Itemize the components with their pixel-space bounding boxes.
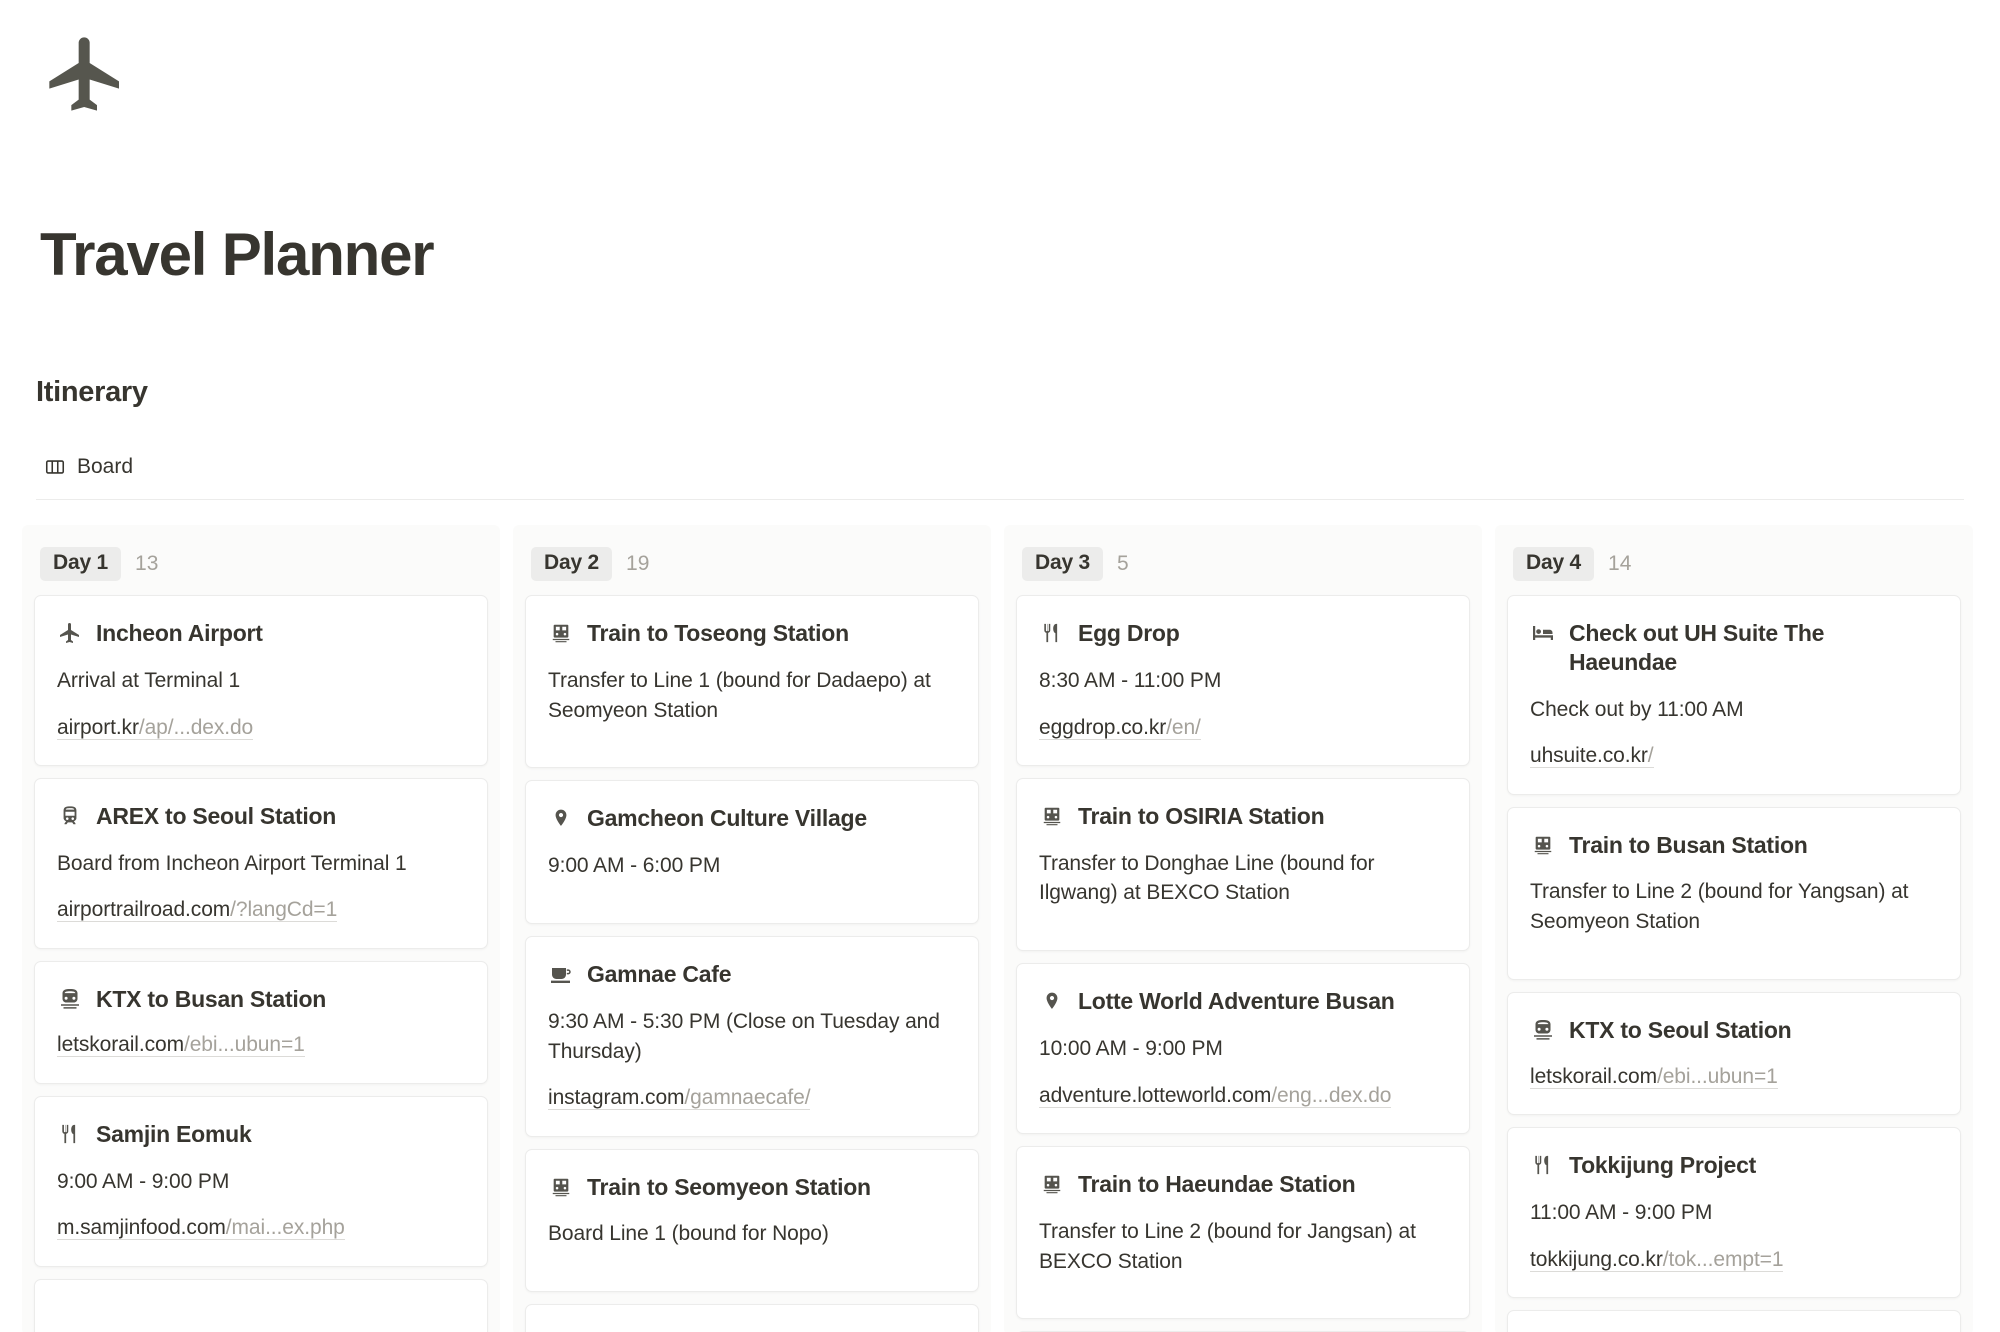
- card-title-text: Check out UH Suite The Haeundae: [1569, 618, 1938, 677]
- card-title: Incheon Airport: [57, 618, 465, 648]
- card-subtitle: Transfer to Line 1 (bound for Dadaepo) a…: [548, 666, 956, 726]
- card-title-text: Train to Seomyeon Station: [587, 1172, 871, 1202]
- card-title: Samjin Eomuk: [57, 1119, 465, 1149]
- card-subtitle: Transfer to Donghae Line (bound for Ilgw…: [1039, 849, 1447, 909]
- card-title: Egg Drop: [1039, 618, 1447, 648]
- card-list: Check out UH Suite The HaeundaeCheck out…: [1495, 595, 1973, 1332]
- tab-board[interactable]: Board: [44, 455, 133, 479]
- url-path: /en/: [1166, 716, 1201, 739]
- board-column[interactable]: Day 35Egg Drop8:30 AM - 11:00 PMeggdrop.…: [1004, 525, 1482, 1332]
- card-url-link[interactable]: m.samjinfood.com/mai...ex.php: [57, 1216, 345, 1240]
- url-domain: airport.kr: [57, 716, 139, 739]
- url-domain: m.samjinfood.com: [57, 1216, 226, 1239]
- itinerary-card[interactable]: Jeonpo Café Street: [525, 1304, 979, 1332]
- card-subtitle: Transfer to Line 2 (bound for Yangsan) a…: [1530, 877, 1938, 937]
- card-subtitle: Arrival at Terminal 1: [57, 666, 465, 696]
- board-view[interactable]: Day 113Incheon AirportArrival at Termina…: [22, 525, 1994, 1332]
- itinerary-card[interactable]: AREX to Seoul StationBoard from Incheon …: [34, 778, 488, 949]
- card-title: Train to Seomyeon Station: [548, 1172, 956, 1202]
- card-title-text: Egg Drop: [1078, 618, 1180, 648]
- metro-train-icon: [57, 802, 82, 830]
- column-card-count: 13: [135, 552, 158, 576]
- card-url-link[interactable]: tokkijung.co.kr/tok...empt=1: [1530, 1248, 1783, 1272]
- card-title-text: Tokkijung Project: [1569, 1150, 1756, 1180]
- map-pin-icon: [1039, 987, 1064, 1015]
- subway-train-icon: [548, 1173, 573, 1201]
- url-path: /ebi...ubun=1: [1657, 1065, 1778, 1088]
- header-divider: [36, 499, 1964, 500]
- card-url-link[interactable]: eggdrop.co.kr/en/: [1039, 716, 1201, 740]
- card-title: Tokkijung Project: [1530, 1150, 1938, 1180]
- bed-icon: [1530, 619, 1555, 647]
- itinerary-card[interactable]: Tokkijung Project11:00 AM - 9:00 PMtokki…: [1507, 1127, 1961, 1298]
- subway-train-icon: [1039, 1170, 1064, 1198]
- card-title: Train to Busan Station: [1530, 830, 1938, 860]
- card-url-link[interactable]: letskorail.com/ebi...ubun=1: [1530, 1065, 1778, 1089]
- column-card-count: 19: [626, 552, 649, 576]
- restaurant-icon: [57, 1120, 82, 1148]
- url-path: /gamnaecafe/: [684, 1086, 810, 1109]
- card-url-link[interactable]: uhsuite.co.kr/: [1530, 744, 1654, 768]
- card-url-link[interactable]: adventure.lotteworld.com/eng...dex.do: [1039, 1084, 1391, 1108]
- itinerary-card[interactable]: Lotte World Adventure Busan10:00 AM - 9:…: [1016, 963, 1470, 1134]
- card-title: AREX to Seoul Station: [57, 801, 465, 831]
- card-url-link[interactable]: airportrailroad.com/?langCd=1: [57, 898, 337, 922]
- card-title: Jeonpo Café Street: [548, 1327, 956, 1332]
- url-domain: instagram.com: [548, 1086, 684, 1109]
- column-header[interactable]: Day 113: [22, 525, 500, 595]
- restaurant-icon: [1530, 1151, 1555, 1179]
- subway-train-icon: [548, 619, 573, 647]
- card-subtitle: Transfer to Line 2 (bound for Jangsan) a…: [1039, 1217, 1447, 1277]
- itinerary-card[interactable]: Gamnae Cafe9:30 AM - 5:30 PM (Close on T…: [525, 936, 979, 1137]
- url-path: /mai...ex.php: [226, 1216, 345, 1239]
- column-header[interactable]: Day 414: [1495, 525, 1973, 595]
- url-path: /ap/...dex.do: [139, 716, 253, 739]
- card-list: Egg Drop8:30 AM - 11:00 PMeggdrop.co.kr/…: [1004, 595, 1482, 1332]
- card-subtitle: 10:00 AM - 9:00 PM: [1039, 1034, 1447, 1064]
- itinerary-card[interactable]: Egg Drop8:30 AM - 11:00 PMeggdrop.co.kr/…: [1016, 595, 1470, 766]
- card-title-text: Incheon Airport: [96, 618, 263, 648]
- card-title: Train to Haeundae Station: [1039, 1169, 1447, 1199]
- column-name-chip[interactable]: Day 4: [1513, 547, 1594, 581]
- column-name-chip[interactable]: Day 3: [1022, 547, 1103, 581]
- column-card-count: 14: [1608, 552, 1631, 576]
- itinerary-card[interactable]: Train to Seomyeon StationBoard Line 1 (b…: [525, 1149, 979, 1293]
- itinerary-card[interactable]: Train to Haeundae StationTransfer to Lin…: [1016, 1146, 1470, 1319]
- card-url-link[interactable]: instagram.com/gamnaecafe/: [548, 1086, 810, 1110]
- itinerary-card[interactable]: Gamcheon Culture Village9:00 AM - 6:00 P…: [525, 780, 979, 924]
- card-title: Gamcheon Culture Village: [548, 803, 956, 833]
- column-name-chip[interactable]: Day 2: [531, 547, 612, 581]
- card-title: Gamnae Cafe: [548, 959, 956, 989]
- card-list: Train to Toseong StationTransfer to Line…: [513, 595, 991, 1332]
- coffee-cup-icon: [548, 960, 573, 988]
- url-path: /: [1648, 744, 1654, 767]
- card-subtitle: 8:30 AM - 11:00 PM: [1039, 666, 1447, 696]
- travel-planner-page: Travel Planner Itinerary Board Day 113In…: [0, 0, 2000, 1332]
- board-view-icon: [44, 456, 66, 478]
- card-title: Check out UH Suite The Haeundae: [1530, 618, 1938, 677]
- itinerary-card[interactable]: Train to OSIRIA StationTransfer to Dongh…: [1016, 778, 1470, 951]
- url-domain: tokkijung.co.kr: [1530, 1248, 1663, 1271]
- itinerary-card-partial[interactable]: [1507, 1310, 1961, 1332]
- card-title-text: Train to Busan Station: [1569, 830, 1808, 860]
- column-name-chip[interactable]: Day 1: [40, 547, 121, 581]
- card-title-text: Jeonpo Café Street: [587, 1327, 792, 1332]
- tab-board-label: Board: [77, 455, 133, 479]
- card-subtitle: 11:00 AM - 9:00 PM: [1530, 1198, 1938, 1228]
- url-domain: adventure.lotteworld.com: [1039, 1084, 1271, 1107]
- subway-train-icon: [1039, 802, 1064, 830]
- subway-train-icon: [1530, 831, 1555, 859]
- card-title-text: Samjin Eomuk: [96, 1119, 251, 1149]
- url-path: /tok...empt=1: [1663, 1248, 1784, 1271]
- board-column[interactable]: Day 414Check out UH Suite The HaeundaeCh…: [1495, 525, 1973, 1332]
- card-title: Train to OSIRIA Station: [1039, 801, 1447, 831]
- page-title: Travel Planner: [40, 225, 433, 285]
- card-subtitle: Board Line 1 (bound for Nopo): [548, 1219, 956, 1249]
- airplane-icon: [57, 619, 82, 647]
- airplane-icon: [42, 30, 130, 118]
- board-column[interactable]: Day 219Train to Toseong StationTransfer …: [513, 525, 991, 1332]
- card-subtitle: Check out by 11:00 AM: [1530, 695, 1938, 725]
- section-title: Itinerary: [36, 378, 148, 407]
- itinerary-card[interactable]: Train to Toseong StationTransfer to Line…: [525, 595, 979, 768]
- card-list: Incheon AirportArrival at Terminal 1airp…: [22, 595, 500, 1332]
- card-title: KTX to Seoul Station: [1530, 1015, 1938, 1045]
- url-path: /?langCd=1: [230, 898, 337, 921]
- card-title-text: Gamcheon Culture Village: [587, 803, 867, 833]
- column-card-count: 5: [1117, 552, 1129, 576]
- itinerary-card[interactable]: Train to Busan StationTransfer to Line 2…: [1507, 807, 1961, 980]
- url-domain: uhsuite.co.kr: [1530, 744, 1648, 767]
- card-title-text: KTX to Busan Station: [96, 984, 326, 1014]
- card-url-link[interactable]: letskorail.com/ebi...ubun=1: [57, 1033, 305, 1057]
- url-domain: eggdrop.co.kr: [1039, 716, 1166, 739]
- card-subtitle: 9:00 AM - 6:00 PM: [548, 851, 956, 881]
- ktx-train-icon: [1530, 1016, 1555, 1044]
- itinerary-card[interactable]: KTX to Seoul Stationletskorail.com/ebi..…: [1507, 992, 1961, 1115]
- card-title: KTX to Busan Station: [57, 984, 465, 1014]
- card-title-text: Train to OSIRIA Station: [1078, 801, 1324, 831]
- url-domain: airportrailroad.com: [57, 898, 230, 921]
- card-title-text: KTX to Seoul Station: [1569, 1015, 1791, 1045]
- card-title: Train to Toseong Station: [548, 618, 956, 648]
- itinerary-card[interactable]: Check out UH Suite The HaeundaeCheck out…: [1507, 595, 1961, 795]
- map-pin-icon: [548, 804, 573, 832]
- board-column[interactable]: Day 113Incheon AirportArrival at Termina…: [22, 525, 500, 1332]
- url-domain: letskorail.com: [57, 1033, 184, 1056]
- url-domain: letskorail.com: [1530, 1065, 1657, 1088]
- itinerary-card-partial[interactable]: [34, 1279, 488, 1332]
- card-title-text: AREX to Seoul Station: [96, 801, 336, 831]
- card-title-text: Lotte World Adventure Busan: [1078, 986, 1395, 1016]
- column-header[interactable]: Day 35: [1004, 525, 1482, 595]
- card-subtitle: 9:30 AM - 5:30 PM (Close on Tuesday and …: [548, 1007, 956, 1067]
- url-path: /ebi...ubun=1: [184, 1033, 305, 1056]
- card-subtitle: 9:00 AM - 9:00 PM: [57, 1167, 465, 1197]
- card-title-text: Gamnae Cafe: [587, 959, 731, 989]
- column-header[interactable]: Day 219: [513, 525, 991, 595]
- restaurant-icon: [1039, 619, 1064, 647]
- itinerary-card[interactable]: Incheon AirportArrival at Terminal 1airp…: [34, 595, 488, 766]
- url-path: /eng...dex.do: [1271, 1084, 1391, 1107]
- card-title-text: Train to Toseong Station: [587, 618, 849, 648]
- card-subtitle: Board from Incheon Airport Terminal 1: [57, 849, 465, 879]
- card-title: Lotte World Adventure Busan: [1039, 986, 1447, 1016]
- itinerary-card[interactable]: Samjin Eomuk9:00 AM - 9:00 PMm.samjinfoo…: [34, 1096, 488, 1267]
- ktx-train-icon: [57, 985, 82, 1013]
- itinerary-card[interactable]: KTX to Busan Stationletskorail.com/ebi..…: [34, 961, 488, 1084]
- map-pin-icon: [548, 1328, 573, 1332]
- card-title-text: Train to Haeundae Station: [1078, 1169, 1355, 1199]
- card-url-link[interactable]: airport.kr/ap/...dex.do: [57, 716, 253, 740]
